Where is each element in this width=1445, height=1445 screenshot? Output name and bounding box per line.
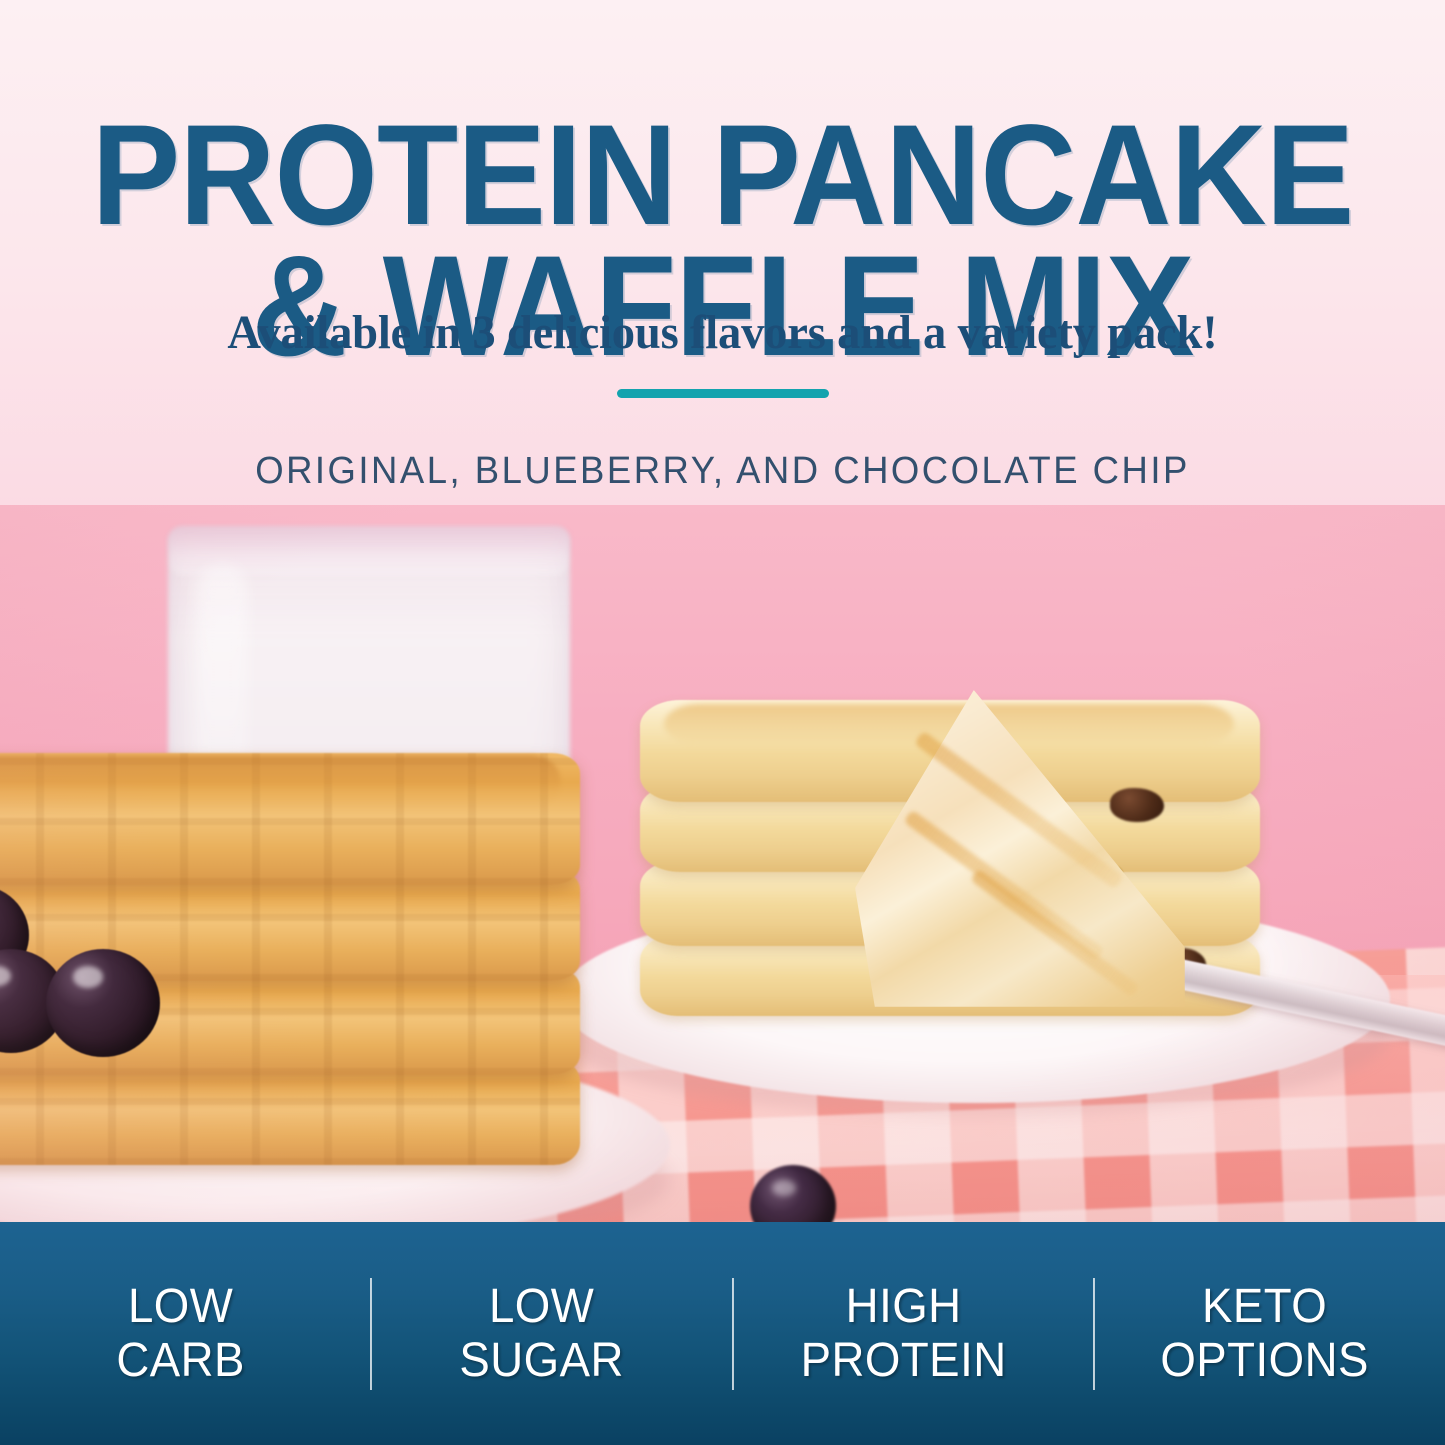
subtitle: Available in 3 delicious flavors and a v… [22, 305, 1424, 360]
benefit-keto-options: KETO OPTIONS [1093, 1280, 1436, 1388]
benefit-line-1: KETO [1202, 1280, 1327, 1333]
blueberry [46, 949, 160, 1057]
waffle-layer [0, 753, 580, 885]
pancake-wedge [855, 690, 1185, 1020]
product-promo-poster: PROTEIN PANCAKE & WAFFLE MIX Available i… [0, 0, 1445, 1445]
teal-divider [617, 389, 829, 398]
benefit-low-carb: LOW CARB [9, 1280, 352, 1388]
waffle-top-crisp [0, 755, 560, 807]
benefit-line-2: CARB [9, 1334, 352, 1388]
pancake-wedge-body [855, 690, 1185, 1020]
benefit-line-2: OPTIONS [1093, 1334, 1436, 1388]
benefit-line-2: SUGAR [370, 1334, 713, 1388]
benefit-line-1: LOW [128, 1280, 233, 1333]
benefit-low-sugar: LOW SUGAR [370, 1280, 713, 1388]
benefit-line-1: LOW [489, 1280, 594, 1333]
food-photo [0, 505, 1445, 1222]
benefit-line-2: PROTEIN [732, 1334, 1075, 1388]
flavor-list: ORIGINAL, BLUEBERRY, AND CHOCOLATE CHIP [29, 450, 1416, 493]
benefits-banner: LOW CARB LOW SUGAR HIGH PROTEIN KETO OPT… [0, 1222, 1445, 1445]
benefit-high-protein: HIGH PROTEIN [732, 1280, 1075, 1388]
benefit-line-1: HIGH [845, 1280, 961, 1333]
waffle-stack [0, 753, 580, 1153]
